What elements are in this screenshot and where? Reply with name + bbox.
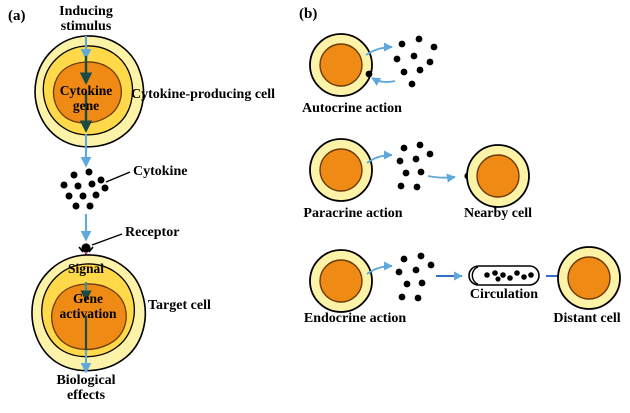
label-target-cell: Target cell	[148, 298, 211, 313]
panel-b-tag: (b)	[299, 6, 317, 22]
leader-receptor	[92, 234, 122, 245]
label-distant-cell: Distant cell	[553, 311, 620, 326]
nearby-cell	[467, 145, 529, 207]
arrow-paracrine-to-nearby	[428, 176, 455, 178]
autocrine-bound-dot	[366, 71, 373, 78]
leader-cytokine	[106, 172, 130, 182]
distant-cell	[558, 247, 620, 309]
panel-a-tag: (a)	[8, 8, 26, 24]
receptor-icon	[79, 243, 93, 252]
label-biological-effects: Biological effects	[56, 373, 115, 403]
label-cytokine-gene: Cytokine gene	[60, 84, 113, 113]
autocrine-dot-cluster	[394, 36, 438, 88]
arrow-autocrine-in	[372, 78, 395, 82]
label-autocrine-action: Autocrine action	[302, 101, 402, 116]
label-circulation: Circulation	[470, 287, 538, 302]
label-paracrine-action: Paracrine action	[303, 206, 402, 221]
label-gene-activation: Gene activation	[60, 292, 117, 321]
label-receptor: Receptor	[125, 225, 179, 240]
endocrine-source-cell	[310, 250, 372, 312]
paracrine-dot-cluster	[397, 142, 434, 191]
paracrine-source-cell	[310, 139, 372, 201]
label-nearby-cell: Nearby cell	[464, 206, 532, 221]
cytokine-dot-cluster	[61, 169, 109, 210]
label-endocrine-action: Endocrine action	[304, 311, 406, 326]
label-cytokine-producing-cell: Cytokine-producing cell	[131, 87, 275, 102]
label-inducing-stimulus: Inducing stimulus	[59, 4, 113, 34]
cytokine-signaling-diagram: (a) (b) Inducing stimulus Cytokine gene …	[0, 0, 630, 413]
autocrine-cell	[310, 34, 372, 96]
label-cytokine: Cytokine	[133, 164, 187, 179]
label-signal: Signal	[68, 262, 104, 277]
endocrine-dot-cluster	[396, 253, 435, 302]
circulation-vessel	[469, 266, 539, 285]
